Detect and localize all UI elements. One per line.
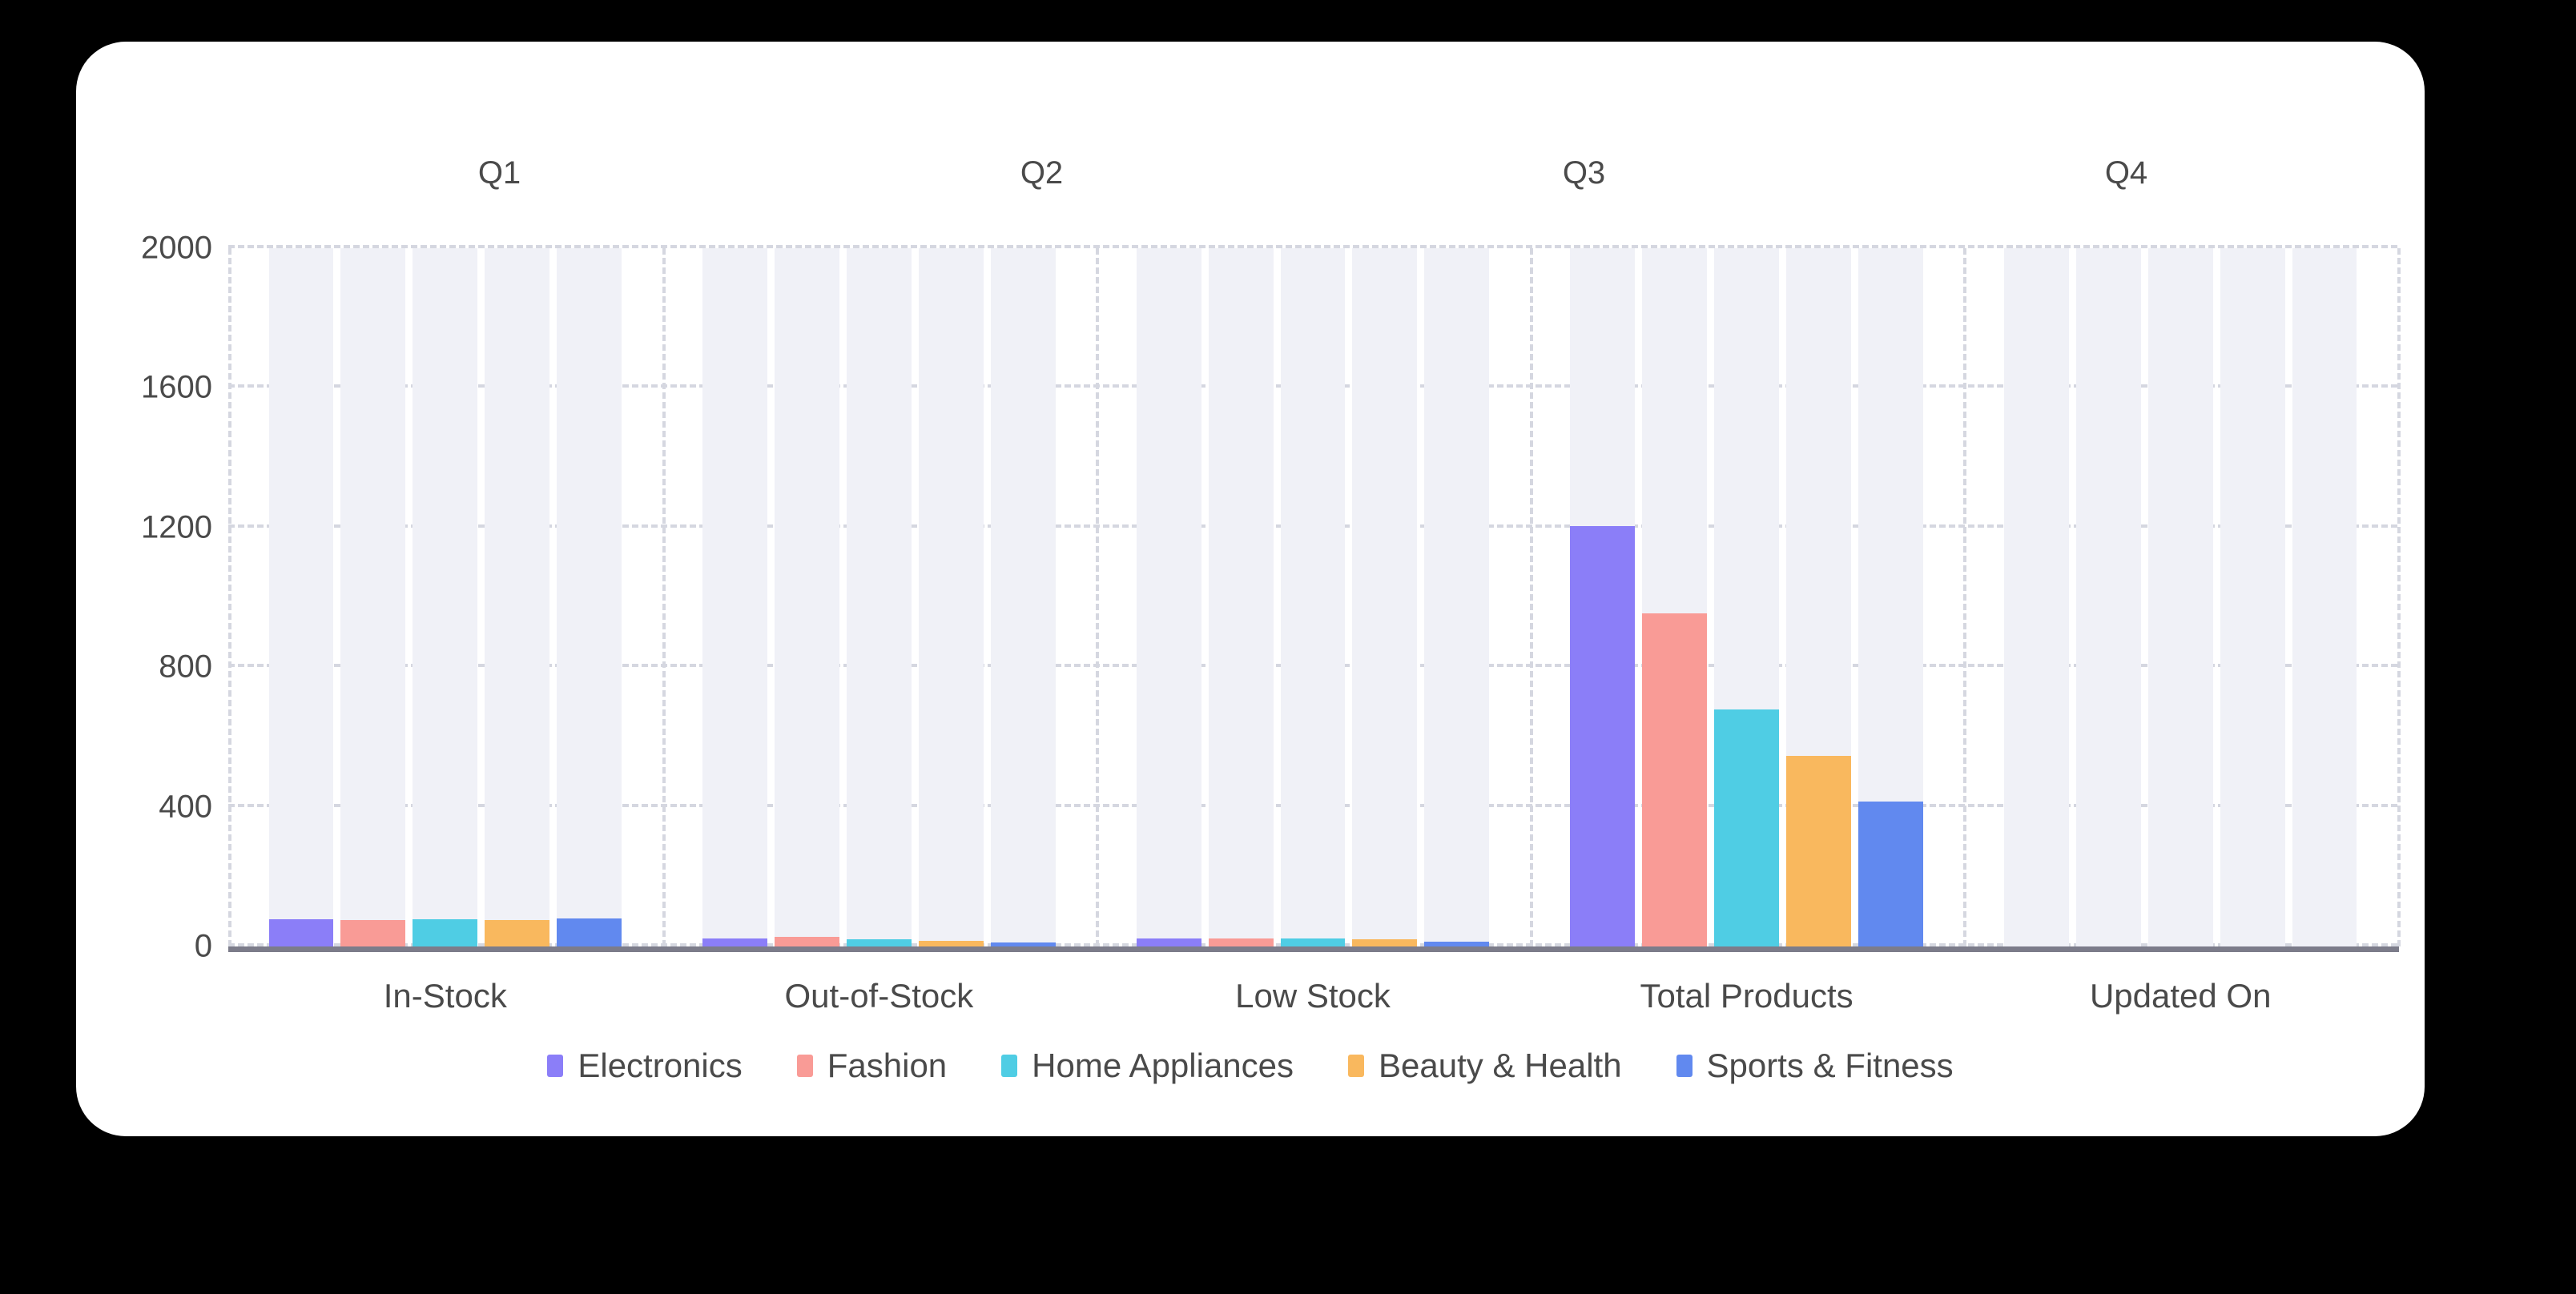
y-axis-tick-label: 2000 bbox=[76, 231, 212, 267]
bar-group[interactable] bbox=[1096, 248, 1530, 946]
bar[interactable] bbox=[1352, 939, 1417, 946]
legend-label: Sports & Fitness bbox=[1707, 1047, 1954, 1085]
x-axis-category-label: Updated On bbox=[2090, 977, 2272, 1015]
vertical-gridline bbox=[2397, 248, 2401, 946]
bar-track bbox=[2148, 248, 2213, 946]
legend-label: Fashion bbox=[827, 1047, 947, 1085]
grouped-bar-chart[interactable]: Q1Q2Q3Q4 0400800120016002000 In-StockOut… bbox=[76, 42, 2425, 1136]
legend-swatch-icon bbox=[1348, 1055, 1364, 1077]
bar[interactable] bbox=[269, 919, 334, 946]
bar-group[interactable] bbox=[662, 248, 1097, 946]
legend-item-sports-fitness[interactable]: Sports & Fitness bbox=[1676, 1047, 1954, 1085]
bar-track bbox=[485, 248, 549, 946]
x-axis-category-label: Out-of-Stock bbox=[785, 977, 974, 1015]
bar[interactable] bbox=[1786, 756, 1851, 946]
quarter-label: Q2 bbox=[1020, 155, 1063, 191]
bar[interactable] bbox=[1714, 709, 1779, 946]
bar-track bbox=[413, 248, 477, 946]
bar-track bbox=[2220, 248, 2285, 946]
bar[interactable] bbox=[1137, 938, 1201, 946]
bar-track bbox=[1281, 248, 1346, 946]
bar[interactable] bbox=[775, 937, 839, 946]
bar-track bbox=[775, 248, 839, 946]
legend-item-electronics[interactable]: Electronics bbox=[547, 1047, 742, 1085]
legend-label: Beauty & Health bbox=[1379, 1047, 1622, 1085]
bar[interactable] bbox=[1209, 938, 1274, 946]
bar[interactable] bbox=[1281, 938, 1346, 946]
plot-area[interactable] bbox=[228, 248, 2397, 946]
bar-track bbox=[919, 248, 984, 946]
bar[interactable] bbox=[340, 920, 405, 946]
bar-group[interactable] bbox=[1963, 248, 2397, 946]
bar-track bbox=[2076, 248, 2141, 946]
x-axis-category-label: Total Products bbox=[1640, 977, 1854, 1015]
bar-track bbox=[1137, 248, 1201, 946]
bar-track bbox=[340, 248, 405, 946]
bar[interactable] bbox=[1570, 526, 1635, 946]
chart-card: Q1Q2Q3Q4 0400800120016002000 In-StockOut… bbox=[76, 42, 2425, 1136]
bar-group[interactable] bbox=[1530, 248, 1964, 946]
chart-legend[interactable]: ElectronicsFashionHome AppliancesBeauty … bbox=[76, 1047, 2425, 1085]
y-axis-tick-label: 1600 bbox=[76, 370, 212, 406]
bar-track bbox=[991, 248, 1056, 946]
y-axis-tick-label: 800 bbox=[76, 649, 212, 685]
legend-swatch-icon bbox=[1001, 1055, 1017, 1077]
bar-track bbox=[702, 248, 767, 946]
y-axis-tick-label: 400 bbox=[76, 789, 212, 825]
bar[interactable] bbox=[485, 920, 549, 946]
quarter-label: Q4 bbox=[2105, 155, 2147, 191]
bar-track bbox=[1209, 248, 1274, 946]
bar[interactable] bbox=[1858, 802, 1923, 946]
legend-item-home-appliances[interactable]: Home Appliances bbox=[1001, 1047, 1294, 1085]
bar-group[interactable] bbox=[228, 248, 662, 946]
legend-swatch-icon bbox=[547, 1055, 563, 1077]
legend-item-fashion[interactable]: Fashion bbox=[797, 1047, 947, 1085]
legend-item-beauty-health[interactable]: Beauty & Health bbox=[1348, 1047, 1622, 1085]
legend-label: Home Appliances bbox=[1032, 1047, 1294, 1085]
y-axis-tick-label: 0 bbox=[76, 929, 212, 965]
bar-track bbox=[847, 248, 912, 946]
bar-track bbox=[1424, 248, 1489, 946]
bar-track bbox=[2292, 248, 2357, 946]
bar[interactable] bbox=[1642, 613, 1707, 946]
bar-track bbox=[557, 248, 622, 946]
bar-track bbox=[2004, 248, 2069, 946]
quarter-label: Q3 bbox=[1563, 155, 1605, 191]
bar[interactable] bbox=[557, 918, 622, 946]
bar[interactable] bbox=[702, 938, 767, 946]
legend-label: Electronics bbox=[578, 1047, 742, 1085]
quarter-label: Q1 bbox=[478, 155, 521, 191]
bar[interactable] bbox=[847, 939, 912, 946]
legend-swatch-icon bbox=[1676, 1055, 1693, 1077]
x-axis-category-label: In-Stock bbox=[384, 977, 507, 1015]
bar-track bbox=[1352, 248, 1417, 946]
x-axis-line bbox=[228, 946, 2399, 952]
y-axis-tick-label: 1200 bbox=[76, 509, 212, 545]
legend-swatch-icon bbox=[797, 1055, 813, 1077]
x-axis-category-label: Low Stock bbox=[1235, 977, 1391, 1015]
bar[interactable] bbox=[919, 941, 984, 946]
bar[interactable] bbox=[413, 919, 477, 946]
bar-track bbox=[269, 248, 334, 946]
